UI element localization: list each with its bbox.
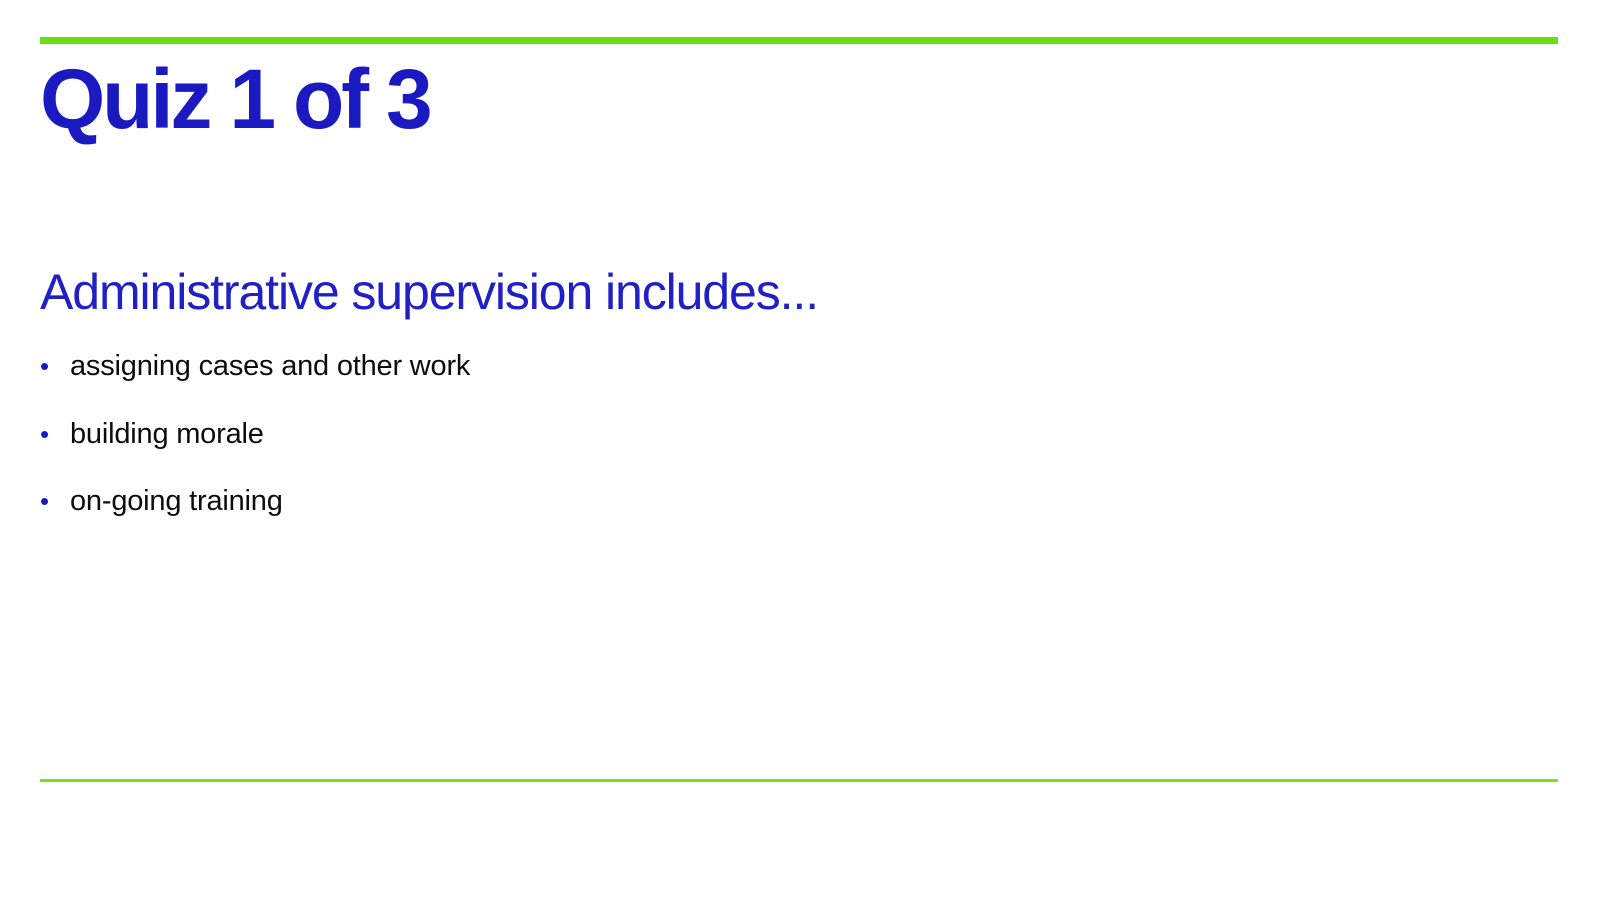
section-heading: Administrative supervision includes... [40, 264, 818, 320]
top-accent-rule [40, 37, 1558, 44]
list-item-label: assigning cases and other work [70, 348, 1140, 386]
bullet-point-icon: • [40, 485, 70, 519]
bottom-accent-rule [40, 779, 1558, 782]
page-title: Quiz 1 of 3 [40, 57, 430, 141]
list-item: • building morale [40, 416, 1140, 454]
list-item: • on-going training [40, 483, 1140, 521]
bullet-point-icon: • [40, 418, 70, 452]
list-item: • assigning cases and other work [40, 348, 1140, 386]
slide-canvas: Quiz 1 of 3 Administrative supervision i… [0, 0, 1600, 900]
bullet-list: • assigning cases and other work • build… [40, 348, 1140, 521]
list-item-label: building morale [70, 416, 1140, 454]
list-item-label: on-going training [70, 483, 1140, 521]
bullet-point-icon: • [40, 350, 70, 384]
